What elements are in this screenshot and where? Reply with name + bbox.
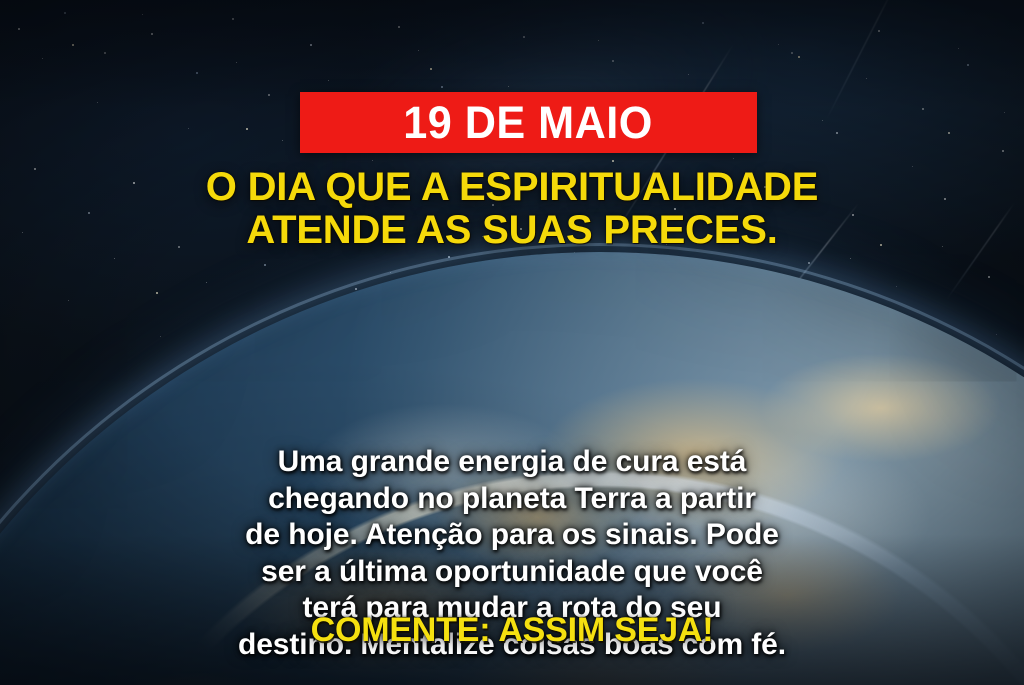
body-line-4: ser a última oportunidade que você: [34, 554, 990, 591]
body-line-2: chegando no planeta Terra a partir: [34, 481, 990, 518]
headline-line-2: ATENDE AS SUAS PRECES.: [40, 209, 984, 252]
headline-line-1: O DIA QUE A ESPIRITUALIDADE: [40, 166, 984, 209]
body-line-1: Uma grande energia de cura está: [34, 444, 990, 481]
date-banner: 19 DE MAIO: [300, 92, 757, 153]
poster-canvas: 19 DE MAIO O DIA QUE A ESPIRITUALIDADE A…: [0, 0, 1024, 685]
call-to-action-text: COMENTE: ASSIM SEJA!: [0, 613, 1024, 647]
poster-content: 19 DE MAIO O DIA QUE A ESPIRITUALIDADE A…: [0, 0, 1024, 685]
body-line-3: de hoje. Atenção para os sinais. Pode: [34, 517, 990, 554]
date-banner-label: 19 DE MAIO: [404, 100, 654, 145]
headline: O DIA QUE A ESPIRITUALIDADE ATENDE AS SU…: [0, 166, 1024, 252]
